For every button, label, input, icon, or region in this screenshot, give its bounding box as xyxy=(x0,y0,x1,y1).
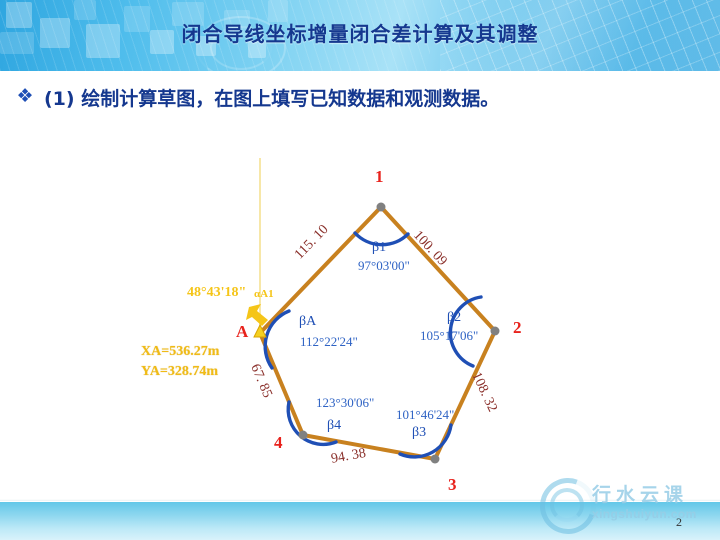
vertex-dot-3 xyxy=(431,455,440,464)
traverse-svg xyxy=(0,130,720,495)
watermark-ring-icon xyxy=(550,488,584,522)
azimuth-name: αA1 xyxy=(254,288,274,300)
vertex-dot-4 xyxy=(299,431,308,440)
vertex-label-4: 4 xyxy=(274,433,283,453)
angle-value-A: 112°22'24" xyxy=(300,334,358,350)
angle-arc-A xyxy=(265,311,289,368)
vertex-dot-1 xyxy=(377,203,386,212)
angle-value-1: 97°03'00" xyxy=(358,258,410,274)
angle-value-3: 101°46'24" xyxy=(396,407,454,423)
azimuth-arrow-icon xyxy=(246,304,268,326)
slide-header-banner: 闭合导线坐标增量闭合差计算及其调整 xyxy=(0,0,720,71)
azimuth-value: 48°43'18" xyxy=(187,285,246,301)
vertex-label-1: 1 xyxy=(375,167,384,187)
bullet-text: (1) 绘制计算草图，在图上填写已知数据和观测数据。 xyxy=(44,84,499,111)
diamond-bullet-icon: ❖ xyxy=(14,86,36,108)
vertex-label-A: A xyxy=(236,322,248,342)
known-y-coordinate: YA=328.74m xyxy=(141,364,218,380)
header-square xyxy=(74,0,96,20)
slide-footer-bar: 行水云课 xingshuiyun.com 2 xyxy=(0,501,720,540)
watermark-cn-text: 行水云课 xyxy=(592,480,688,507)
page-number: 2 xyxy=(676,515,682,530)
angle-name-2: β2 xyxy=(447,310,461,326)
angle-name-A: βA xyxy=(299,314,316,330)
bullet-row: ❖ (1) 绘制计算草图，在图上填写已知数据和观测数据。 xyxy=(14,84,714,118)
vertex-label-2: 2 xyxy=(513,318,522,338)
vertex-dot-2 xyxy=(491,327,500,336)
angle-value-4: 123°30'06" xyxy=(316,395,374,411)
angle-name-3: β3 xyxy=(412,425,426,441)
angle-value-2: 105°17'06" xyxy=(420,328,478,344)
vertex-label-3: 3 xyxy=(448,475,457,495)
traverse-diagram: 1 2 3 4 A βA 112°22'24" β1 97°03'00" β2 … xyxy=(0,130,720,495)
watermark: 行水云课 xingshuiyun.com xyxy=(534,476,714,534)
page-title: 闭合导线坐标增量闭合差计算及其调整 xyxy=(0,18,720,47)
angle-name-4: β4 xyxy=(327,418,341,434)
known-x-coordinate: XA=536.27m xyxy=(141,344,219,360)
slide-root: 闭合导线坐标增量闭合差计算及其调整 ❖ (1) 绘制计算草图，在图上填写已知数据… xyxy=(0,0,720,540)
angle-name-1: β1 xyxy=(372,240,386,256)
